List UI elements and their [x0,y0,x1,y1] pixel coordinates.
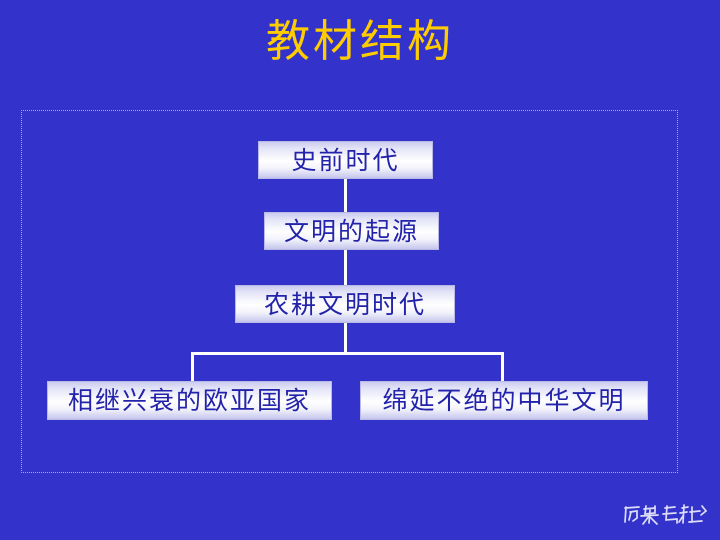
slide: 教材结构 史前时代 文明的起源 农耕文明时代 相继兴衰的欧亚国家 绵延不绝的中华… [0,0,720,540]
node-chinese-civilization[interactable]: 绵延不绝的中华文明 [360,381,648,420]
watermark-brush-glyphs [622,500,708,532]
node-prehistoric[interactable]: 史前时代 [258,141,433,179]
node-civilization-origin[interactable]: 文明的起源 [264,212,439,250]
watermark-logo [622,500,708,532]
page-title: 教材结构 [0,14,720,70]
node-agrarian-civilization-era[interactable]: 农耕文明时代 [235,285,455,323]
node-eurasian-states[interactable]: 相继兴衰的欧亚国家 [47,381,332,420]
